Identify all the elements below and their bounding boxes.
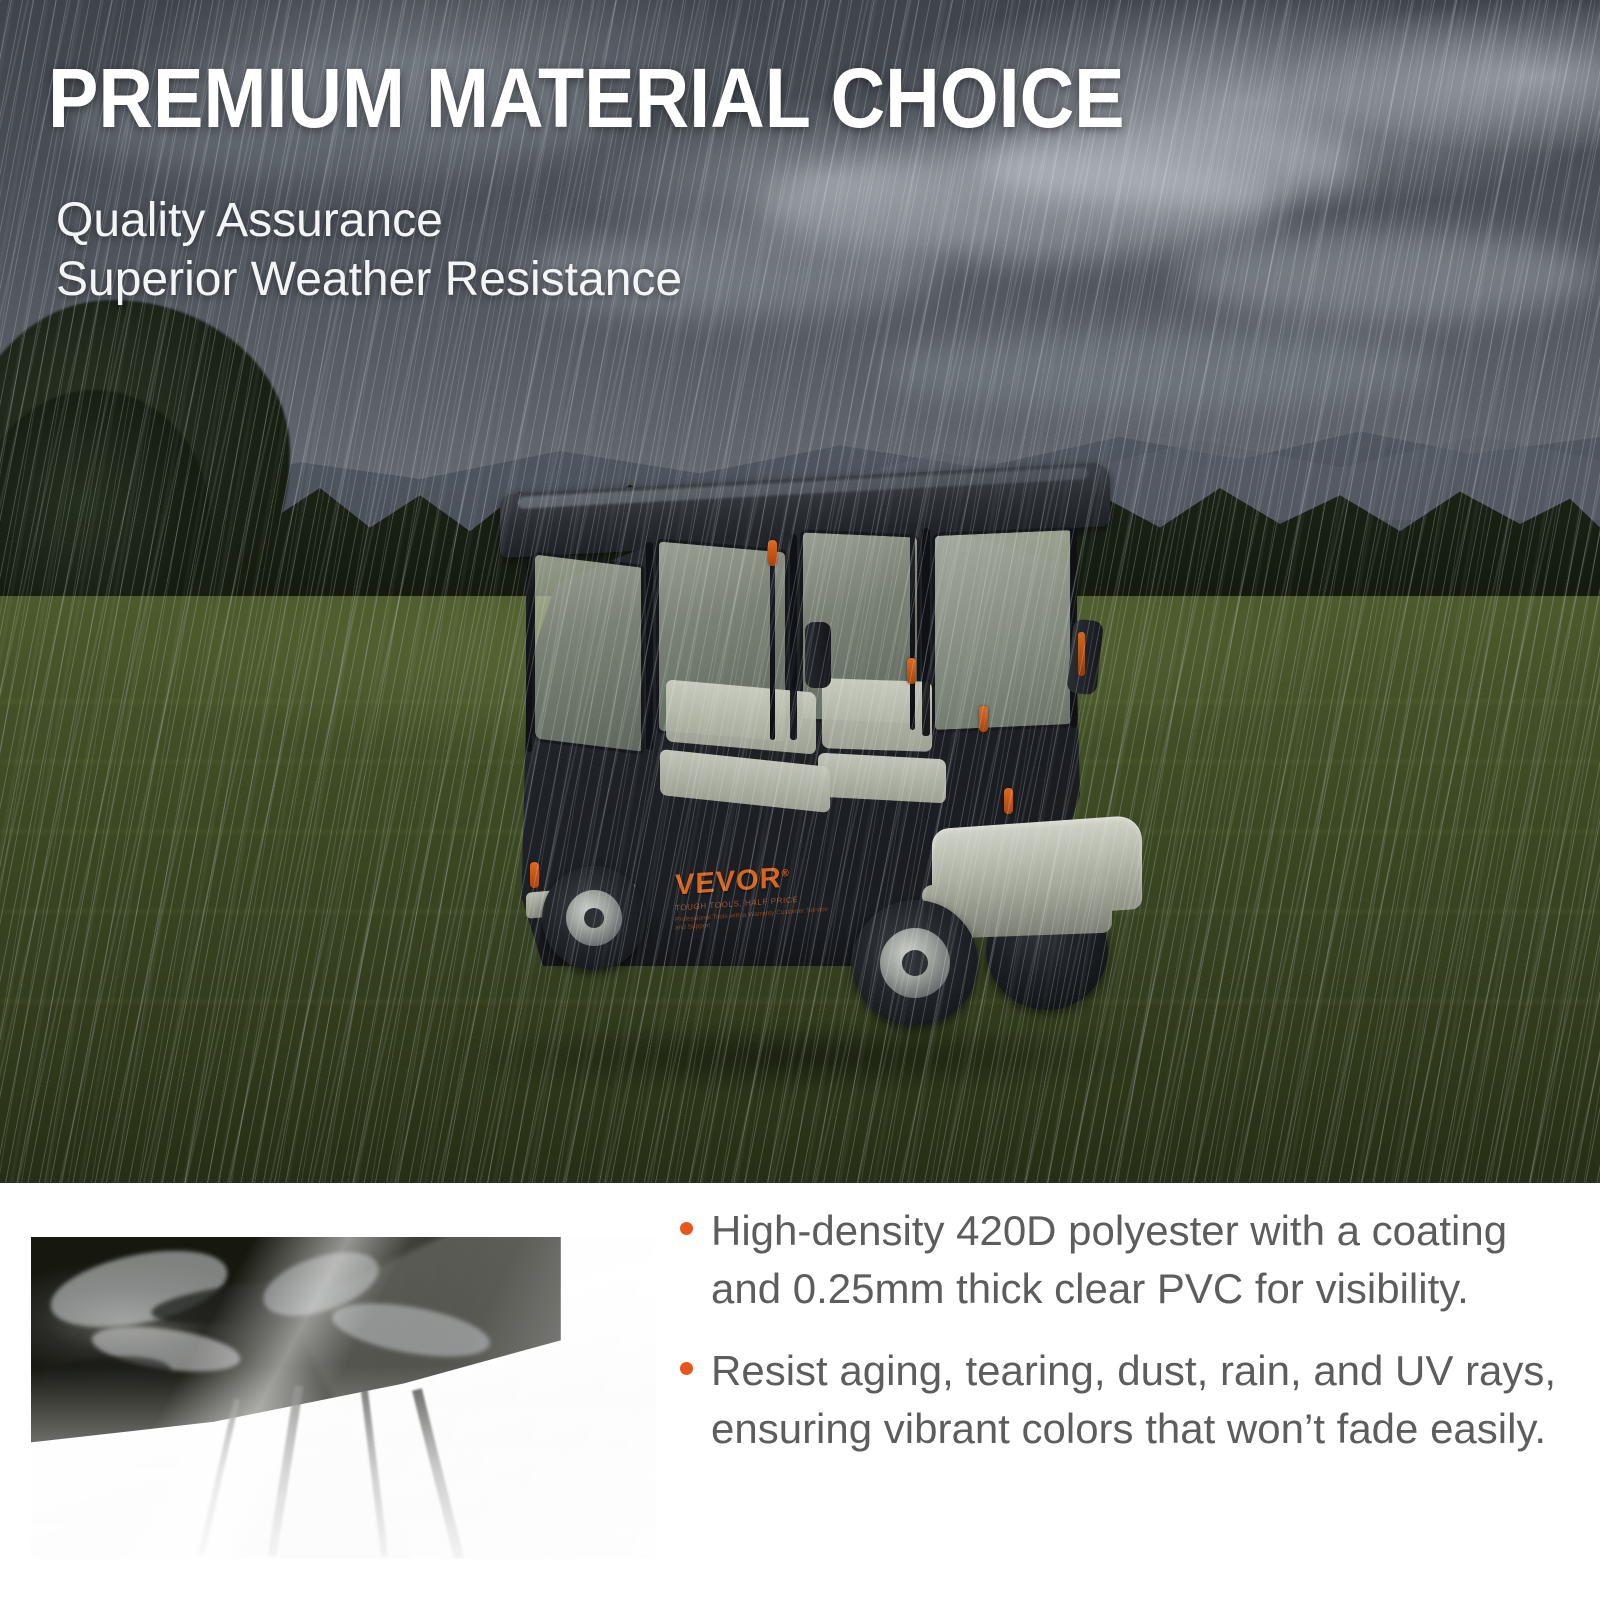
zipper-pull [768, 540, 777, 566]
frame-post [646, 542, 653, 751]
hero-image: VEVOR® TOUGH TOOLS, HALF PRICE Professio… [0, 0, 1600, 1183]
page-title: PREMIUM MATERIAL CHOICE [48, 56, 1218, 140]
windshield-panel [932, 527, 1074, 733]
vevor-brand-print: VEVOR® TOUGH TOOLS, HALF PRICE Professio… [675, 860, 835, 933]
hero-subtitle-line-1: Quality Assurance [56, 192, 1256, 251]
hero-subtitle: Quality Assurance Superior Weather Resis… [56, 192, 1256, 309]
zipper-pull [907, 658, 916, 684]
list-item: High-density 420D polyester with a coati… [680, 1202, 1560, 1318]
frame-post [790, 534, 797, 740]
wheel-hub-center-front [902, 950, 928, 976]
feature-text: Resist aging, tearing, dust, rain, and U… [711, 1342, 1560, 1458]
zipper-track [770, 544, 775, 740]
list-item: Resist aging, tearing, dust, rain, and U… [680, 1342, 1560, 1458]
bullet-dot-icon [680, 1362, 693, 1375]
wheel-hub-center-rear [584, 908, 604, 928]
feature-text: High-density 420D polyester with a coati… [711, 1202, 1560, 1318]
bullet-dot-icon [680, 1222, 693, 1235]
mirror-zipper [1078, 632, 1085, 676]
product-feature-page: VEVOR® TOUGH TOOLS, HALF PRICE Professio… [0, 0, 1600, 1600]
mirror-pocket-left [805, 622, 831, 688]
window-rear [532, 551, 644, 755]
seat-front-bottom [818, 753, 946, 804]
pvc-material-thumbnail [31, 1237, 656, 1559]
frame-post [526, 562, 532, 753]
frame-post [922, 528, 930, 736]
zipper-track [910, 532, 915, 730]
golf-cart-with-enclosure: VEVOR® TOUGH TOOLS, HALF PRICE Professio… [470, 470, 1190, 1070]
hero-subtitle-line-2: Superior Weather Resistance [56, 251, 1256, 310]
pvc-sheen [31, 1237, 656, 1559]
seat-front-back [822, 678, 932, 752]
zipper-pull [530, 862, 539, 888]
cloud [880, 330, 1440, 410]
zipper-pull [979, 706, 988, 732]
feature-bullet-list: High-density 420D polyester with a coati… [680, 1202, 1560, 1482]
zipper-pull [1004, 788, 1013, 814]
mirror-pocket-right [1066, 619, 1104, 696]
